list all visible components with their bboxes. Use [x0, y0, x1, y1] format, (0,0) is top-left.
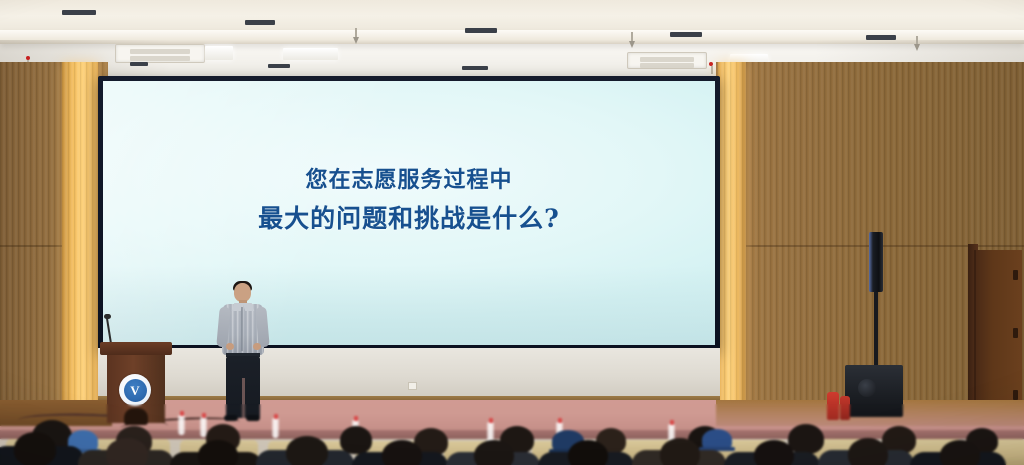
- podium-emblem: V: [119, 374, 151, 406]
- projection-screen: 您在志愿服务过程中 最大的问题和挑战是什么?: [103, 81, 715, 345]
- ceiling-slot-fixture: [130, 62, 148, 66]
- wall-below-screen: [98, 348, 720, 400]
- audience-head: [382, 440, 422, 465]
- exit-door[interactable]: [974, 250, 1022, 425]
- ac-vent-left: [115, 44, 205, 63]
- presenter-figure: [214, 283, 272, 423]
- audience-head: [940, 440, 980, 465]
- audience-head: [340, 426, 372, 454]
- audience-head: [198, 440, 238, 465]
- sprinkler-head: [26, 56, 30, 60]
- presenter-hand-right: [253, 343, 261, 350]
- ceiling-slot-fixture: [268, 64, 290, 68]
- slide-text-block: 您在志愿服务过程中 最大的问题和挑战是什么?: [103, 163, 715, 239]
- presenter-arm-right: [255, 307, 269, 348]
- ceiling-drop-rod: [355, 28, 357, 38]
- line-array-speaker: [869, 232, 883, 292]
- subwoofer-driver: [858, 379, 876, 397]
- ceiling-light-panel: [205, 46, 233, 60]
- accent-light-strip-left: [62, 62, 98, 422]
- audience-head: [474, 440, 514, 465]
- audience-head: [788, 424, 824, 454]
- audience-head: [660, 438, 700, 465]
- accent-light-strip-right: [718, 62, 746, 422]
- audience-cap: [702, 429, 732, 450]
- ceiling-slot-fixture: [245, 20, 275, 25]
- ceiling-slot-fixture: [465, 28, 497, 33]
- podium-microphone-head: [104, 314, 111, 319]
- wall-outlet: [408, 382, 417, 390]
- slide-line-1: 您在志愿服务过程中: [103, 163, 715, 199]
- ceiling-slot-fixture: [670, 32, 702, 37]
- ceiling-drop-rod: [916, 36, 918, 45]
- audience-head: [106, 438, 148, 465]
- podium-emblem-mark: V: [130, 384, 139, 397]
- slide-line-2: 最大的问题和挑战是什么?: [103, 199, 715, 240]
- audience-head: [286, 436, 328, 465]
- presenter-shirt-placket: [241, 307, 243, 351]
- ceiling-drop-rod: [631, 32, 633, 42]
- audience-head: [568, 440, 608, 465]
- ac-vent-right: [627, 52, 707, 69]
- ceiling-light-panel: [283, 48, 338, 60]
- auditorium-scene: 您在志愿服务过程中 最大的问题和挑战是什么? V: [0, 0, 1024, 465]
- speaker-pole: [874, 292, 878, 367]
- podium-top-surface: [100, 342, 172, 355]
- presenter-hand-left: [226, 343, 234, 350]
- ceiling-slot-fixture: [866, 35, 896, 40]
- sprinkler-stem: [711, 66, 713, 74]
- audience-area: [0, 404, 1024, 465]
- sprinkler-head: [709, 62, 713, 66]
- podium-emblem-disc: V: [124, 379, 147, 402]
- audience-head: [754, 440, 794, 465]
- audience-head: [848, 438, 888, 465]
- ceiling-slot-fixture: [62, 10, 96, 15]
- ceiling-slot-fixture: [462, 66, 488, 70]
- audience-head: [14, 432, 56, 465]
